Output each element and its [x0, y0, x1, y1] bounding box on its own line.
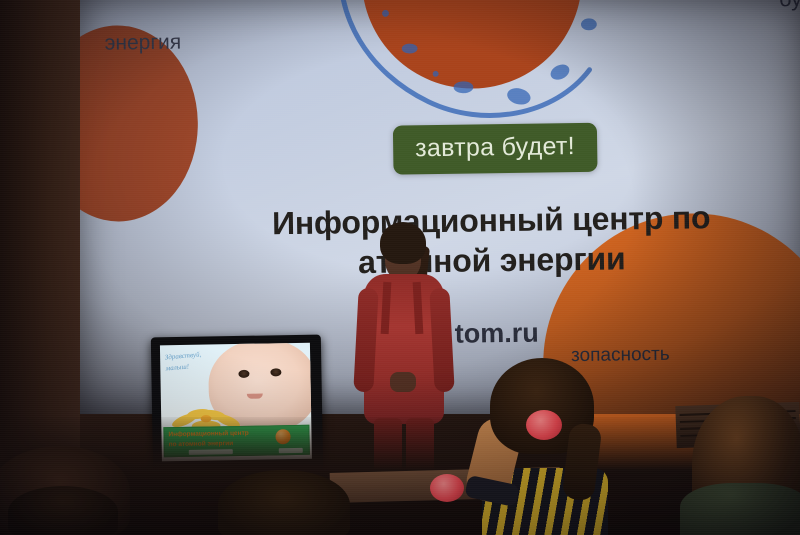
slide-badge-tomorrow: завтра будет!: [393, 123, 597, 175]
child-front-center: [218, 470, 350, 535]
presenter-hair: [380, 222, 426, 264]
girl-striped-top: [480, 358, 610, 535]
monitor-handwriting: Здравствуй, малыш!: [164, 349, 202, 373]
water-splash-icon: [322, 0, 622, 137]
slide-text-energy: энергия: [105, 31, 182, 56]
hair-scrunchie-icon: [526, 410, 562, 440]
slide-headline: Информационный центр по атомной энергии: [201, 196, 782, 284]
child-front-left-lower: [8, 486, 118, 535]
presenter-hands: [390, 372, 416, 392]
slide-url: tom.ru: [455, 318, 539, 350]
presenter-arm-right: [429, 288, 454, 393]
slide-headline-line1: Информационный центр по: [201, 196, 782, 244]
slide-headline-line2: атомной энергии: [202, 236, 783, 284]
wall-left-panel: [0, 0, 80, 470]
hair-scrunchie-icon-2: [430, 474, 464, 502]
slide-text-future: буд: [779, 0, 800, 12]
child-front-right-shirt: [680, 483, 800, 535]
photo-scene: энергия буд завтра будет! Информационный…: [0, 0, 800, 535]
